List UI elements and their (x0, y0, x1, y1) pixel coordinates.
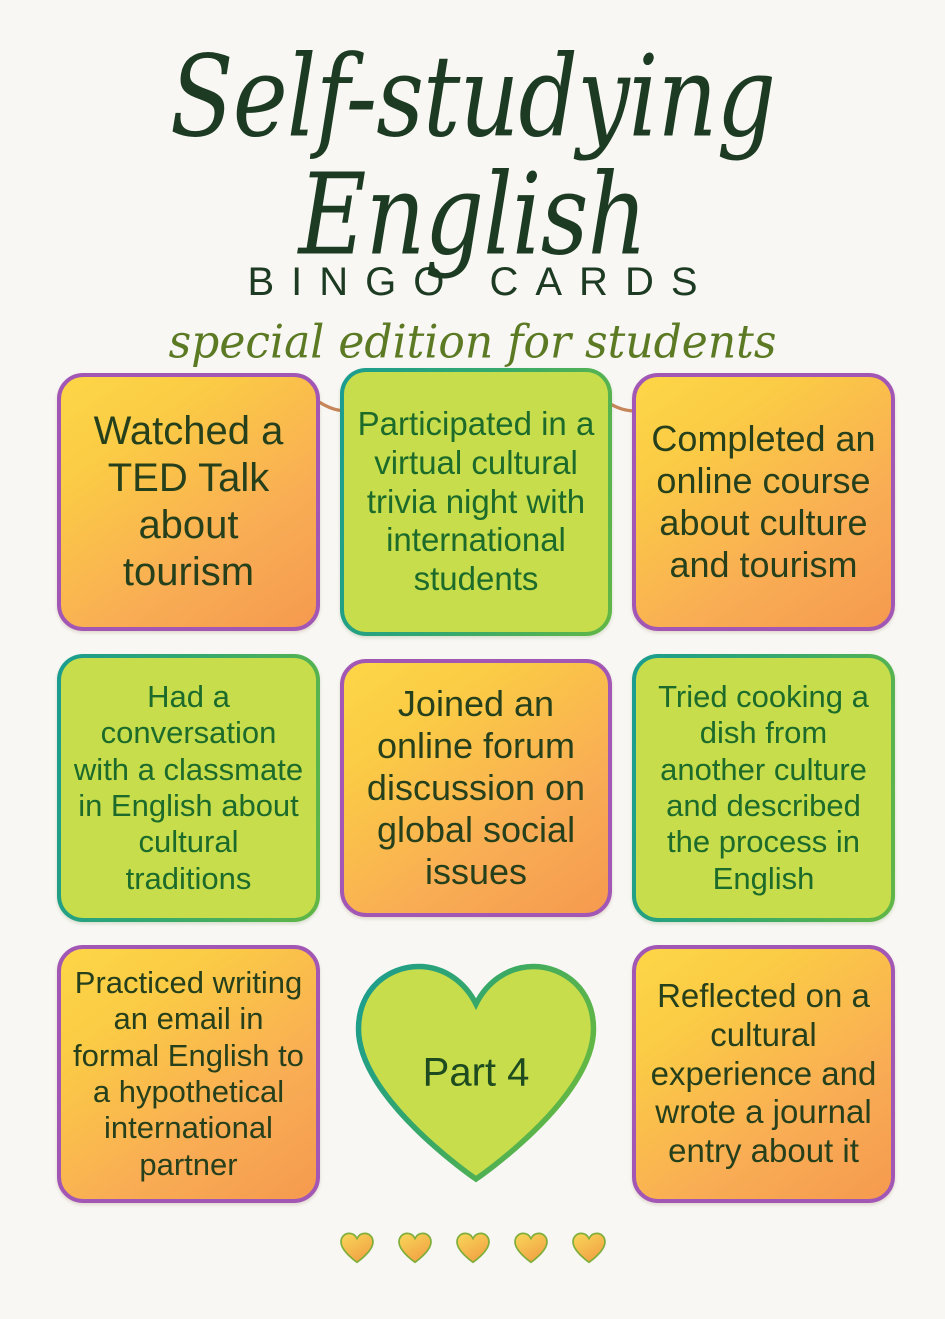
bingo-card-watched-ted-talk[interactable]: Watched a TED Talk about tourism (57, 373, 320, 631)
bingo-cell-5[interactable]: Joined an online forum discussion on glo… (340, 652, 612, 924)
bingo-card-page: Self-studying English BINGO CARDS specia… (0, 0, 945, 1319)
footer-heart-row (0, 1232, 945, 1264)
bingo-cell-2[interactable]: Participated in a virtual cultural trivi… (340, 366, 612, 638)
bingo-cell-label: Reflected on a cultural experience and w… (647, 977, 880, 1170)
bingo-grid: Watched a TED Talk about tourism Partici… (57, 366, 895, 1210)
bingo-card-online-forum[interactable]: Joined an online forum discussion on glo… (340, 659, 612, 917)
bingo-card-formal-email[interactable]: Practiced writing an email in formal Eng… (57, 945, 320, 1203)
free-space-heart[interactable]: Part 4 (340, 938, 612, 1210)
bingo-card-cooking-dish[interactable]: Tried cooking a dish from another cultur… (632, 654, 895, 922)
bingo-cell-8-free-space[interactable]: Part 4 (340, 938, 612, 1210)
bingo-cell-label: Had a conversation with a classmate in E… (72, 679, 305, 897)
bingo-cell-7[interactable]: Practiced writing an email in formal Eng… (57, 938, 320, 1210)
bingo-cell-1[interactable]: Watched a TED Talk about tourism (57, 366, 320, 638)
bingo-card-virtual-trivia-night[interactable]: Participated in a virtual cultural trivi… (340, 368, 612, 636)
heart-icon (514, 1232, 548, 1264)
bingo-card-journal-entry[interactable]: Reflected on a cultural experience and w… (632, 945, 895, 1203)
heart-icon (572, 1232, 606, 1264)
heart-icon (340, 1232, 374, 1264)
bingo-card-conversation-classmate[interactable]: Had a conversation with a classmate in E… (57, 654, 320, 922)
page-title: Self-studying English (9, 28, 935, 275)
bingo-cell-label: Tried cooking a dish from another cultur… (647, 679, 880, 897)
subtitle-tagline: special edition for students (0, 315, 945, 369)
bingo-cell-9[interactable]: Reflected on a cultural experience and w… (632, 938, 895, 1210)
heart-icon (456, 1232, 490, 1264)
bingo-cell-label: Participated in a virtual cultural trivi… (355, 405, 597, 598)
heart-icon (398, 1232, 432, 1264)
bingo-cell-label: Watched a TED Talk about tourism (72, 408, 305, 595)
heart-icon (351, 956, 601, 1192)
bingo-cell-6[interactable]: Tried cooking a dish from another cultur… (632, 652, 895, 924)
bingo-card-online-course[interactable]: Completed an online course about culture… (632, 373, 895, 631)
bingo-cell-label: Practiced writing an email in formal Eng… (72, 965, 305, 1183)
header: Self-studying English BINGO CARDS specia… (0, 0, 945, 418)
bingo-cell-4[interactable]: Had a conversation with a classmate in E… (57, 652, 320, 924)
bingo-cell-label: Joined an online forum discussion on glo… (355, 683, 597, 894)
bingo-cell-label: Completed an online course about culture… (647, 418, 880, 586)
bingo-cell-3[interactable]: Completed an online course about culture… (632, 366, 895, 638)
